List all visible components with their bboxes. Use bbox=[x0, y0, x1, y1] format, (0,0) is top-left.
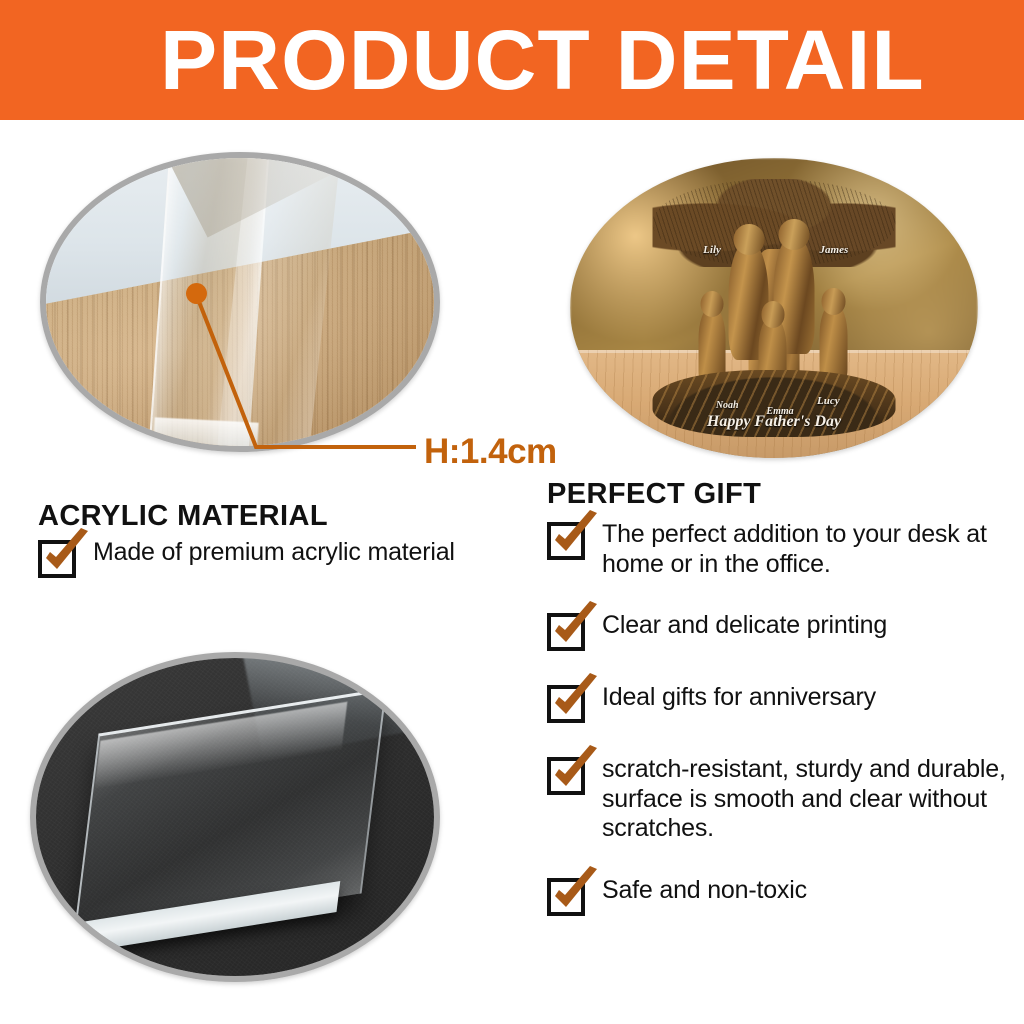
acrylic-block-photo bbox=[30, 652, 440, 982]
check-icon bbox=[547, 522, 585, 560]
sculpture-base-roots bbox=[653, 370, 896, 437]
figure-head bbox=[761, 301, 784, 327]
list-item: Ideal gifts for anniversary bbox=[547, 683, 1009, 723]
bullet-list-acrylic-material: Made of premium acrylic material bbox=[38, 538, 508, 604]
list-item-label: The perfect addition to your desk at hom… bbox=[602, 520, 1009, 579]
check-icon bbox=[547, 878, 585, 916]
figure-head bbox=[733, 224, 764, 255]
list-item: The perfect addition to your desk at hom… bbox=[547, 520, 1009, 579]
check-icon bbox=[547, 757, 585, 795]
list-item: Clear and delicate printing bbox=[547, 611, 1009, 651]
acrylic-edge-photo bbox=[40, 152, 440, 452]
bullet-list-perfect-gift: The perfect addition to your desk at hom… bbox=[547, 520, 1009, 948]
wood-floor-scene bbox=[46, 158, 434, 446]
list-item-label: Ideal gifts for anniversary bbox=[602, 683, 876, 713]
acrylic-block-base-highlight bbox=[153, 417, 258, 446]
header-banner: PRODUCT DETAIL bbox=[0, 0, 1024, 120]
figure-head bbox=[779, 219, 810, 250]
thickness-callout-dot bbox=[186, 283, 207, 304]
page-title: PRODUCT DETAIL bbox=[160, 18, 925, 102]
family-tree-sculpture: Lily James Noah Emma Lucy Happy Father's… bbox=[648, 179, 901, 437]
check-icon bbox=[547, 685, 585, 723]
list-item: scratch-resistant, sturdy and durable, s… bbox=[547, 755, 1009, 844]
acrylic-block-photo-inner bbox=[36, 658, 434, 976]
figure-head bbox=[822, 288, 845, 314]
list-item-label: scratch-resistant, sturdy and durable, s… bbox=[602, 755, 1009, 844]
list-item: Made of premium acrylic material bbox=[38, 538, 508, 578]
list-item: Safe and non-toxic bbox=[547, 876, 1009, 916]
list-item-label: Clear and delicate printing bbox=[602, 611, 887, 641]
acrylic-edge-photo-inner bbox=[46, 158, 434, 446]
list-item-label: Safe and non-toxic bbox=[602, 876, 807, 906]
sculpture-photo: Lily James Noah Emma Lucy Happy Father's… bbox=[570, 158, 978, 458]
check-icon bbox=[38, 540, 76, 578]
list-item-label: Made of premium acrylic material bbox=[93, 538, 455, 568]
check-icon bbox=[547, 613, 585, 651]
thickness-callout-label: H:1.4cm bbox=[424, 432, 557, 472]
section-heading-perfect-gift: PERFECT GIFT bbox=[547, 478, 761, 511]
sculpture-photo-inner: Lily James Noah Emma Lucy Happy Father's… bbox=[570, 158, 978, 458]
figure-head bbox=[700, 291, 723, 317]
